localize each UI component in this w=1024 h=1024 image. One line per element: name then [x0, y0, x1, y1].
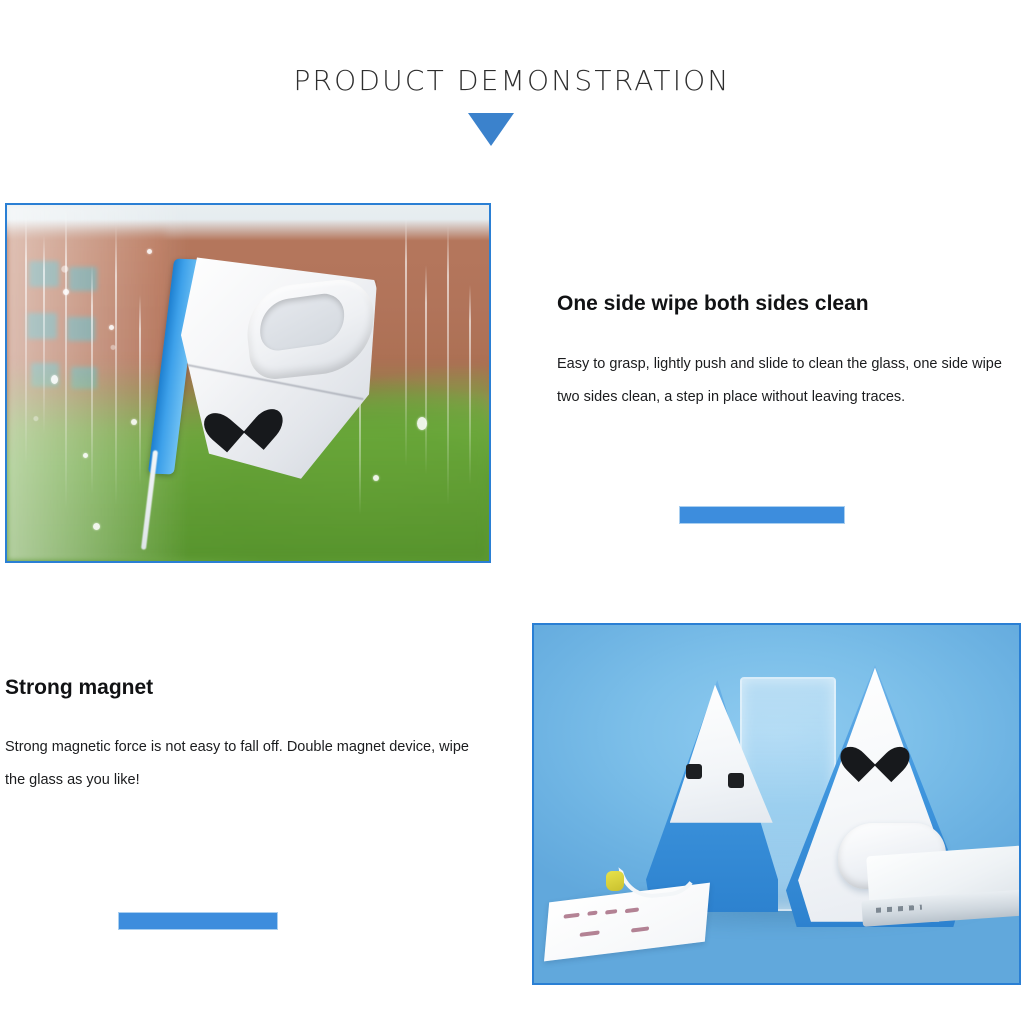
paper-mark: [587, 911, 597, 916]
water-droplet: [51, 375, 58, 384]
rain-streak: [139, 295, 141, 485]
heart-logo-icon: [852, 731, 898, 773]
accent-bar-one-side-wipe: [679, 506, 845, 524]
feature-heading-strong-magnet: Strong magnet: [5, 676, 153, 700]
prop-yellow-clip: [606, 871, 624, 891]
feature-heading-one-side-wipe: One side wipe both sides clean: [557, 292, 869, 316]
triangle-down-icon: [468, 113, 514, 146]
feature-body-strong-magnet: Strong magnetic force is not easy to fal…: [5, 731, 475, 797]
product-grip-dot: [728, 773, 744, 788]
product-grip-dot: [686, 764, 702, 779]
water-droplet: [63, 289, 69, 295]
product-white-face: [670, 685, 773, 829]
rain-streak: [25, 215, 27, 465]
prop-notebook: [858, 845, 1019, 943]
rain-streak: [405, 217, 407, 467]
paper-mark: [605, 909, 617, 915]
photo-scene-rainy-window: [7, 205, 489, 561]
rain-streak: [425, 265, 427, 475]
heart-logo-icon: [215, 391, 270, 443]
feature-image-strong-magnet: [532, 623, 1021, 985]
water-droplet: [93, 523, 100, 530]
water-droplet: [109, 325, 114, 330]
rain-streak: [447, 225, 449, 505]
rain-streak: [43, 235, 45, 435]
page-title: PRODUCT DEMONSTRATION: [0, 64, 1024, 97]
rain-streak: [65, 209, 67, 509]
photo-scene-magnet-pair: [534, 625, 1019, 983]
rain-streak: [469, 285, 471, 485]
paper-mark: [563, 913, 579, 919]
feature-body-one-side-wipe: Easy to grasp, lightly push and slide to…: [557, 348, 1024, 414]
rain-streak: [91, 265, 93, 495]
water-droplet: [131, 419, 137, 425]
accent-bar-strong-magnet: [118, 912, 278, 930]
water-droplet: [417, 417, 427, 430]
paper-mark: [580, 930, 600, 937]
paper-mark: [631, 926, 649, 932]
water-droplet: [83, 453, 88, 458]
paper-mark: [625, 907, 639, 913]
rain-streak: [115, 225, 117, 505]
product-window-cleaner: [155, 253, 385, 488]
feature-image-one-side-wipe: [5, 203, 491, 563]
water-droplet: [147, 249, 152, 254]
